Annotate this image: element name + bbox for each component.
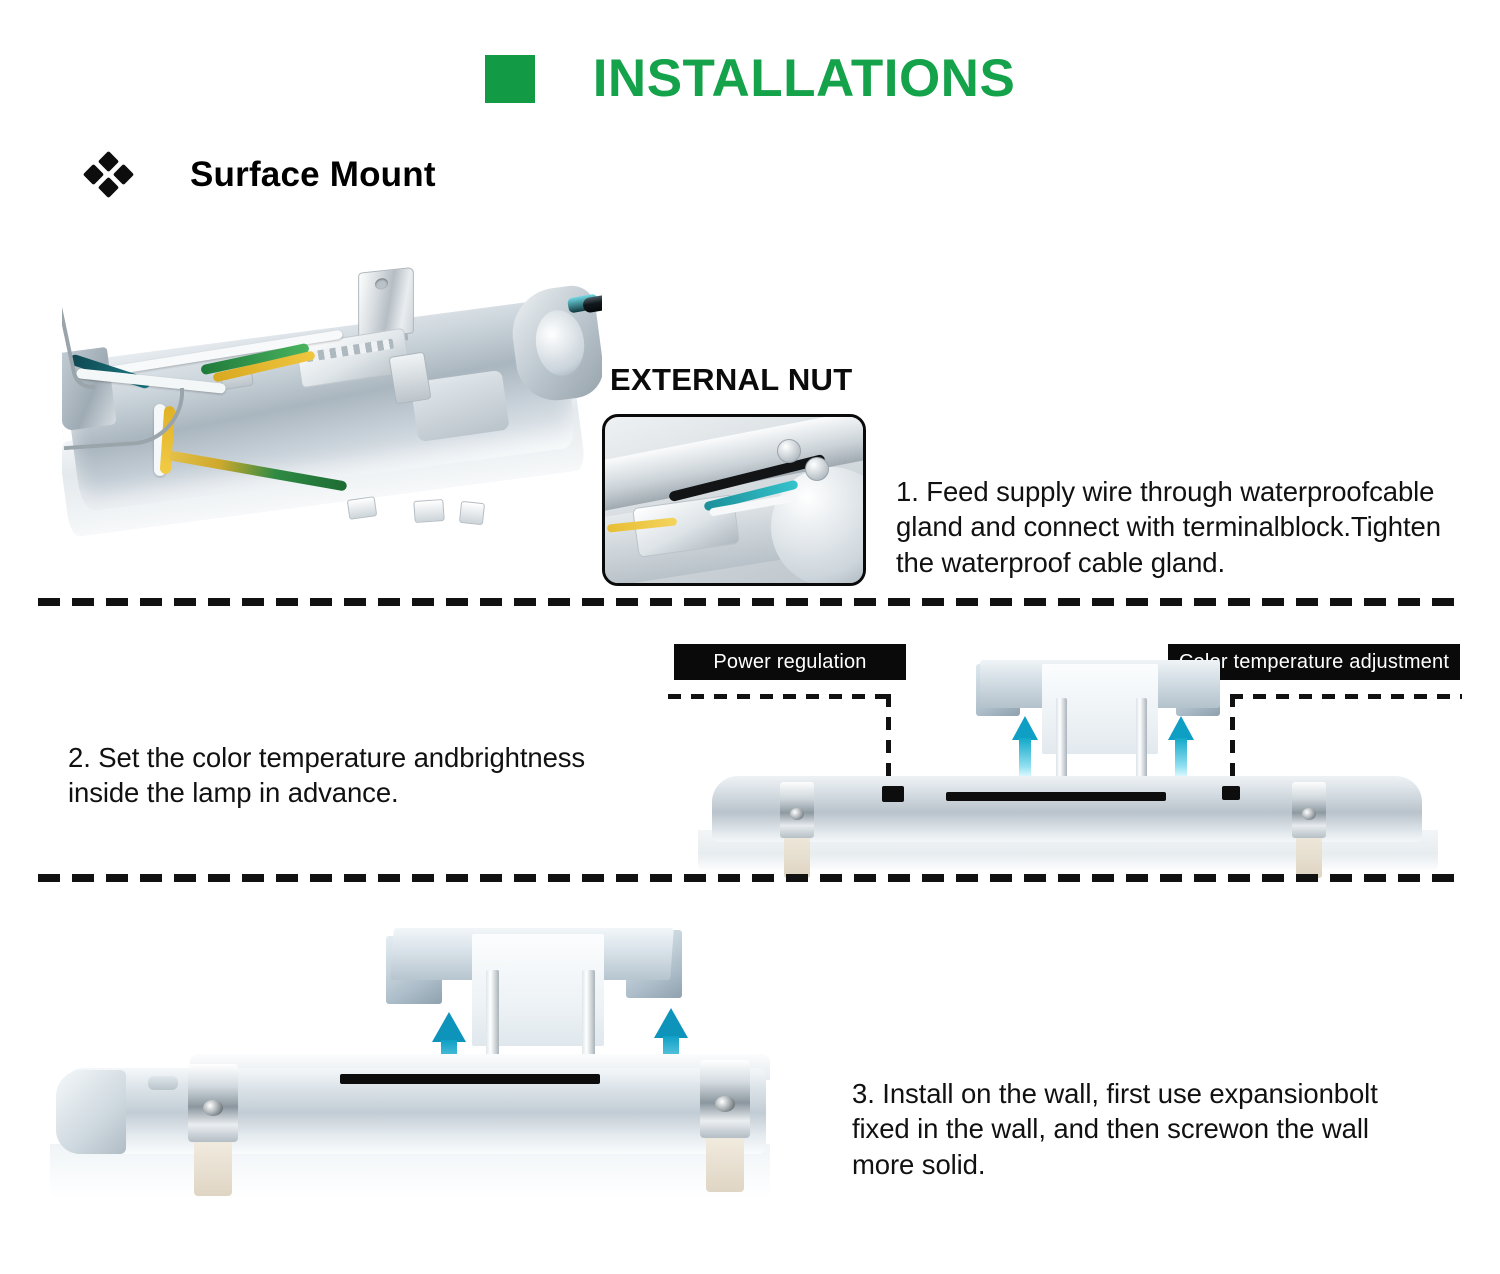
closeup-screw-a [777,439,801,463]
wall-lamp-slot [340,1074,600,1084]
up-arrow-left-icon [1012,716,1038,778]
wire-clip-right [388,351,431,404]
lamp-adjustment-slot [946,792,1166,801]
diamond-cluster-icon [84,152,134,198]
callout-power-regulation: Power regulation [674,644,906,680]
wall-clamp-foot-right [706,1134,744,1192]
wall-clamp-foot-left [194,1138,232,1196]
wall-lamp-end-cap [56,1070,126,1154]
wire-lug-c [459,501,485,525]
up-arrow-right-icon [1168,716,1194,778]
section-heading: Surface Mount [84,152,436,198]
figure-adjustment-diagram: Power regulation Color temperature adjus… [660,634,1470,854]
wall-lamp-clamp-right [700,1060,750,1138]
wall-lamp-clamp-left [188,1064,238,1142]
lamp-clamp-right [1292,782,1326,838]
page-header: INSTALLATIONS [0,52,1500,105]
lamp-clamp-left [780,782,814,838]
bracket-screw-right [1136,698,1147,782]
section-divider-2 [38,874,1458,882]
leader-line-cct-horizontal [1230,694,1462,699]
section-divider-1 [38,598,1458,606]
closeup-screw-b [805,457,829,481]
figure-open-fixture-wiring [62,258,602,588]
external-nut-label: EXTERNAL NUT [610,362,852,398]
step-3-text: 3. Install on the wall, first use expans… [852,1076,1432,1183]
lamp-cct-port [1222,786,1240,800]
bracket-screw-left [1056,698,1067,782]
section-title: Surface Mount [190,155,436,195]
wire-lug-b [413,499,444,523]
wall-lamp-nub [148,1076,178,1090]
lamp-power-port [882,786,904,802]
figure-wall-install-diagram [40,912,830,1242]
clamp-foot-right [1296,834,1322,878]
page-title: INSTALLATIONS [593,52,1016,105]
green-square-icon [485,55,535,103]
wire-lug-a [347,496,378,520]
leader-line-power-vertical [886,694,891,782]
leader-line-power-horizontal [668,694,890,699]
leader-line-cct-vertical [1230,694,1235,782]
mounting-bracket-icon [358,267,414,339]
clamp-foot-left [784,834,810,878]
step-1-text: 1. Feed supply wire through waterproofca… [896,474,1456,581]
step-2-text: 2. Set the color temperature andbrightne… [68,740,628,812]
figure-external-nut-closeup [602,414,866,586]
